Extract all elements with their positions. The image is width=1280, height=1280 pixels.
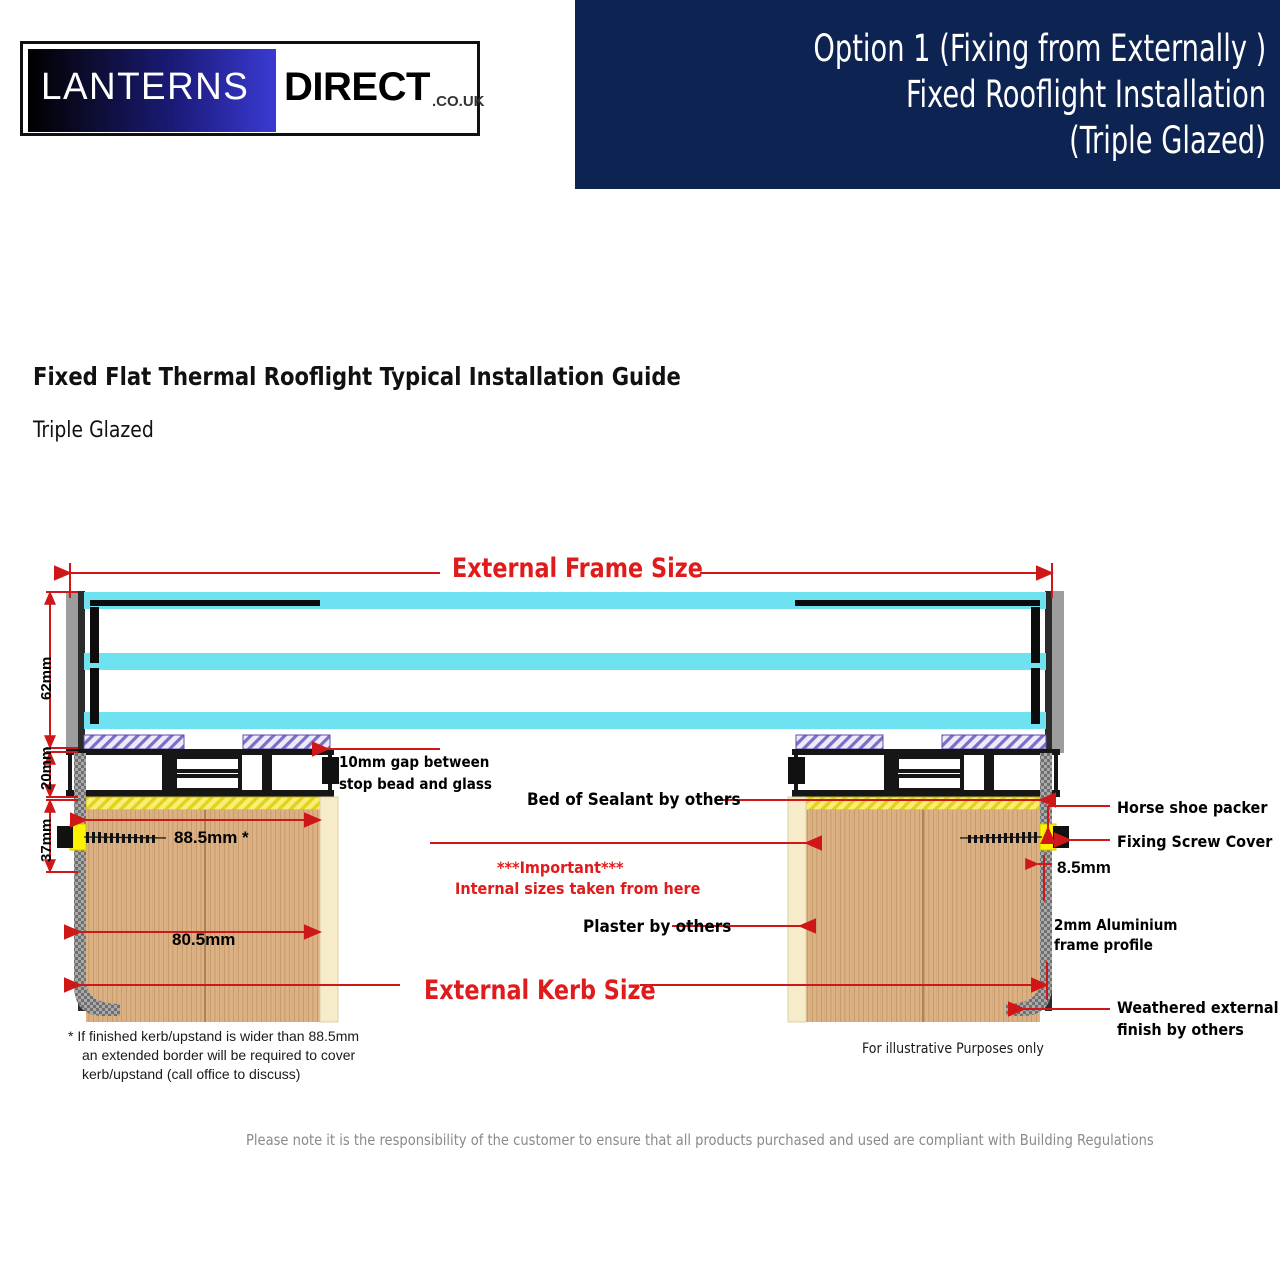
kerb-footnote: * If finished kerb/upstand is wider than… (68, 1027, 359, 1084)
horizontal-dimension-80-5mm: 80.5mm (172, 930, 235, 950)
aluminium-profile-callout-line-1: 2mm Aluminium (1054, 916, 1177, 934)
kerb-footnote-line-1: * If finished kerb/upstand is wider than… (68, 1027, 359, 1046)
external-frame-size-label: External Frame Size (452, 553, 703, 584)
aluminium-profile-callout-line-2: frame profile (1054, 936, 1153, 954)
gap-callout-line-1: 10mm gap between (339, 753, 489, 771)
kerb-footnote-line-3: kerb/upstand (call office to discuss) (68, 1065, 359, 1084)
vertical-dimension-62mm: 62mm (38, 657, 55, 700)
gap-callout-line-2: stop bead and glass (339, 775, 492, 793)
illustrative-note: For illustrative Purposes only (862, 1041, 1044, 1057)
weathered-finish-callout-line-2: finish by others (1117, 1020, 1244, 1039)
important-callout-line-2: Internal sizes taken from here (455, 879, 700, 898)
building-regulations-disclaimer: Please note it is the responsibility of … (246, 1131, 1154, 1149)
vertical-dimension-37mm: 37mm (38, 819, 55, 862)
horse-shoe-packer-callout: Horse shoe packer (1117, 798, 1267, 817)
plaster-callout: Plaster by others (583, 917, 731, 937)
kerb-footnote-line-2: an extended border will be required to c… (68, 1046, 359, 1065)
installation-section-diagram (0, 0, 1280, 1280)
vertical-dimension-20mm: 20mm (38, 747, 55, 790)
external-kerb-size-label: External Kerb Size (424, 975, 656, 1006)
important-callout-line-1: ***Important*** (497, 858, 624, 877)
bed-of-sealant-callout: Bed of Sealant by others (527, 790, 741, 810)
weathered-finish-callout-line-1: Weathered external (1117, 998, 1279, 1017)
horizontal-dimension-8-5mm: 8.5mm (1057, 858, 1111, 878)
fixing-screw-cover-callout: Fixing Screw Cover (1117, 832, 1272, 851)
horizontal-dimension-88-5mm: 88.5mm * (174, 828, 249, 848)
